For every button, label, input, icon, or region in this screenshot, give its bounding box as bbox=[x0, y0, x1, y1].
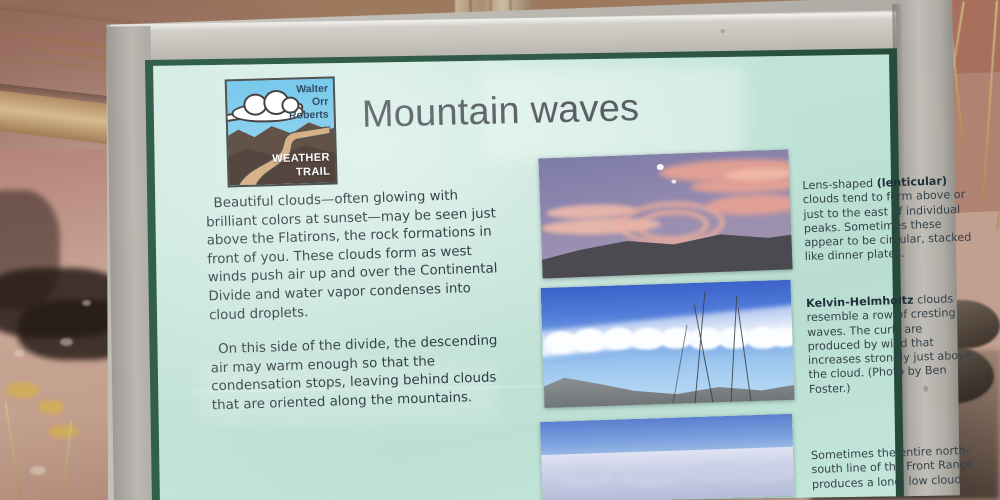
logo-trail-line-2: TRAIL bbox=[273, 165, 331, 180]
lichen-patch bbox=[38, 400, 64, 414]
caption-lenticular: Lens-shaped (lenticular) clouds tend to … bbox=[802, 174, 973, 265]
photo-low-cloud-bank bbox=[540, 414, 795, 500]
logo-org-line-2: Orr bbox=[288, 96, 328, 110]
logo-org-text: Walter Orr Roberts bbox=[288, 83, 329, 123]
caption-front-range-text: Sometimes the entire north-south line of… bbox=[811, 444, 974, 491]
photo-lenticular-sunset bbox=[538, 149, 792, 278]
logo-org-line-1: Walter bbox=[288, 83, 328, 97]
weather-trail-logo: Walter Orr Roberts WEATHER TRAIL bbox=[225, 76, 338, 187]
interpretive-sign: Walter Orr Roberts WEATHER TRAIL Mountai… bbox=[100, 0, 960, 500]
logo-org-line-3: Roberts bbox=[289, 109, 329, 123]
rock-speckle bbox=[30, 466, 46, 475]
photo-kelvin-helmholtz bbox=[541, 280, 795, 408]
rock-speckle bbox=[14, 350, 24, 357]
caption-lenticular-bold: (lenticular) bbox=[876, 174, 947, 189]
rock-shadow bbox=[0, 190, 60, 310]
frame-fleck bbox=[721, 29, 725, 33]
body-paragraph-2: On this side of the divide, the descendi… bbox=[210, 332, 510, 416]
rock-speckle bbox=[60, 338, 73, 346]
body-paragraph-1: Beautiful clouds—often glowing with bril… bbox=[205, 186, 507, 325]
rock-speckle bbox=[82, 300, 91, 306]
sign-panel: Walter Orr Roberts WEATHER TRAIL Mountai… bbox=[153, 54, 896, 500]
body-text: Beautiful clouds—often glowing with bril… bbox=[205, 186, 510, 432]
caption-kelvin-helmholtz: Kelvin-Helmholtz clouds resemble a row o… bbox=[806, 292, 977, 398]
screenshot-stage: Walter Orr Roberts WEATHER TRAIL Mountai… bbox=[0, 0, 1000, 500]
logo-trail-line-1: WEATHER bbox=[272, 152, 330, 167]
page-title: Mountain waves bbox=[361, 87, 639, 137]
photo2-wave-curl bbox=[770, 327, 794, 348]
lichen-patch bbox=[6, 382, 40, 398]
caption-front-range: Sometimes the entire north-south line of… bbox=[811, 444, 980, 492]
lichen-patch bbox=[48, 425, 78, 438]
logo-trail-text: WEATHER TRAIL bbox=[272, 152, 330, 181]
caption-lenticular-lead: Lens-shaped bbox=[802, 177, 877, 192]
caption-lenticular-rest: clouds tend to form above or just to the… bbox=[803, 188, 972, 264]
